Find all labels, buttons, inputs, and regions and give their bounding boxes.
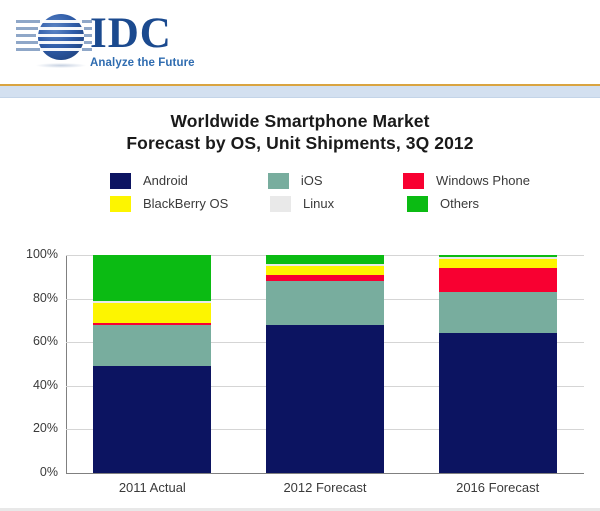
y-axis: 0%20%40%60%80%100% <box>0 248 66 467</box>
header-divider-band <box>0 86 600 97</box>
logo-name: IDC <box>90 12 195 56</box>
legend-row-1: Android iOS Windows Phone <box>110 169 530 192</box>
x-tick-label: 2011 Actual <box>67 480 237 495</box>
page-header: IDC Analyze the Future <box>0 0 600 78</box>
bar-2011-actual[interactable] <box>93 255 211 473</box>
bar-segment-ios[interactable] <box>93 325 211 366</box>
legend-item-others: Others <box>407 196 479 212</box>
bar-segment-others[interactable] <box>93 255 211 301</box>
legend-item-blackberry-os: BlackBerry OS <box>110 196 270 212</box>
y-tick-label: 0% <box>40 465 58 479</box>
y-axis-line <box>66 255 67 474</box>
x-axis-line <box>66 473 584 474</box>
x-tick-label: 2012 Forecast <box>240 480 410 495</box>
legend-item-android: Android <box>110 173 268 189</box>
y-tick-label: 60% <box>33 334 58 348</box>
header-divider-edge <box>0 97 600 98</box>
bar-segment-others[interactable] <box>266 255 384 264</box>
bar-segment-ios[interactable] <box>266 281 384 325</box>
legend-label-linux: Linux <box>303 196 334 211</box>
legend-swatch-ios <box>268 173 289 189</box>
bar-segment-blackberry-os[interactable] <box>93 303 211 323</box>
chart-title-line-1: Worldwide Smartphone Market <box>0 110 600 132</box>
legend-item-linux: Linux <box>270 196 407 212</box>
legend-label-ios: iOS <box>301 173 323 188</box>
legend-item-ios: iOS <box>268 173 403 189</box>
chart-legend: Android iOS Windows Phone BlackBerry OS … <box>110 169 530 215</box>
x-axis-labels: 2011 Actual2012 Forecast2016 Forecast <box>66 480 584 500</box>
x-tick-label: 2016 Forecast <box>413 480 583 495</box>
y-tick-label: 40% <box>33 378 58 392</box>
chart-title: Worldwide Smartphone Market Forecast by … <box>0 110 600 154</box>
legend-label-windows-phone: Windows Phone <box>436 173 530 188</box>
legend-swatch-android <box>110 173 131 189</box>
legend-swatch-windows-phone <box>403 173 424 189</box>
idc-logo: IDC Analyze the Future <box>16 11 195 69</box>
legend-swatch-linux <box>270 196 291 212</box>
bar-segment-android[interactable] <box>266 325 384 473</box>
bar-2016-forecast[interactable] <box>439 255 557 473</box>
legend-label-others: Others <box>440 196 479 211</box>
chart-title-line-2: Forecast by OS, Unit Shipments, 3Q 2012 <box>0 132 600 154</box>
y-tick-label: 80% <box>33 291 58 305</box>
legend-item-windows-phone: Windows Phone <box>403 173 530 189</box>
legend-swatch-others <box>407 196 428 212</box>
bar-segment-blackberry-os[interactable] <box>266 266 384 275</box>
bar-segment-ios[interactable] <box>439 292 557 333</box>
y-tick-label: 20% <box>33 421 58 435</box>
logo-tagline: Analyze the Future <box>90 57 195 69</box>
y-tick-label: 100% <box>26 247 58 261</box>
plot-canvas <box>66 255 584 473</box>
legend-row-2: BlackBerry OS Linux Others <box>110 192 530 215</box>
logo-wordmark: IDC Analyze the Future <box>90 11 195 69</box>
bar-segment-blackberry-os[interactable] <box>439 259 557 268</box>
chart-plot-area: 0%20%40%60%80%100% 2011 Actual2012 Forec… <box>0 248 600 483</box>
globe-icon <box>16 11 92 67</box>
legend-label-android: Android <box>143 173 188 188</box>
legend-swatch-blackberry-os <box>110 196 131 212</box>
bar-segment-android[interactable] <box>439 333 557 473</box>
bar-2012-forecast[interactable] <box>266 255 384 473</box>
bar-segment-android[interactable] <box>93 366 211 473</box>
legend-label-blackberry-os: BlackBerry OS <box>143 196 228 211</box>
bar-segment-windows-phone[interactable] <box>439 268 557 292</box>
